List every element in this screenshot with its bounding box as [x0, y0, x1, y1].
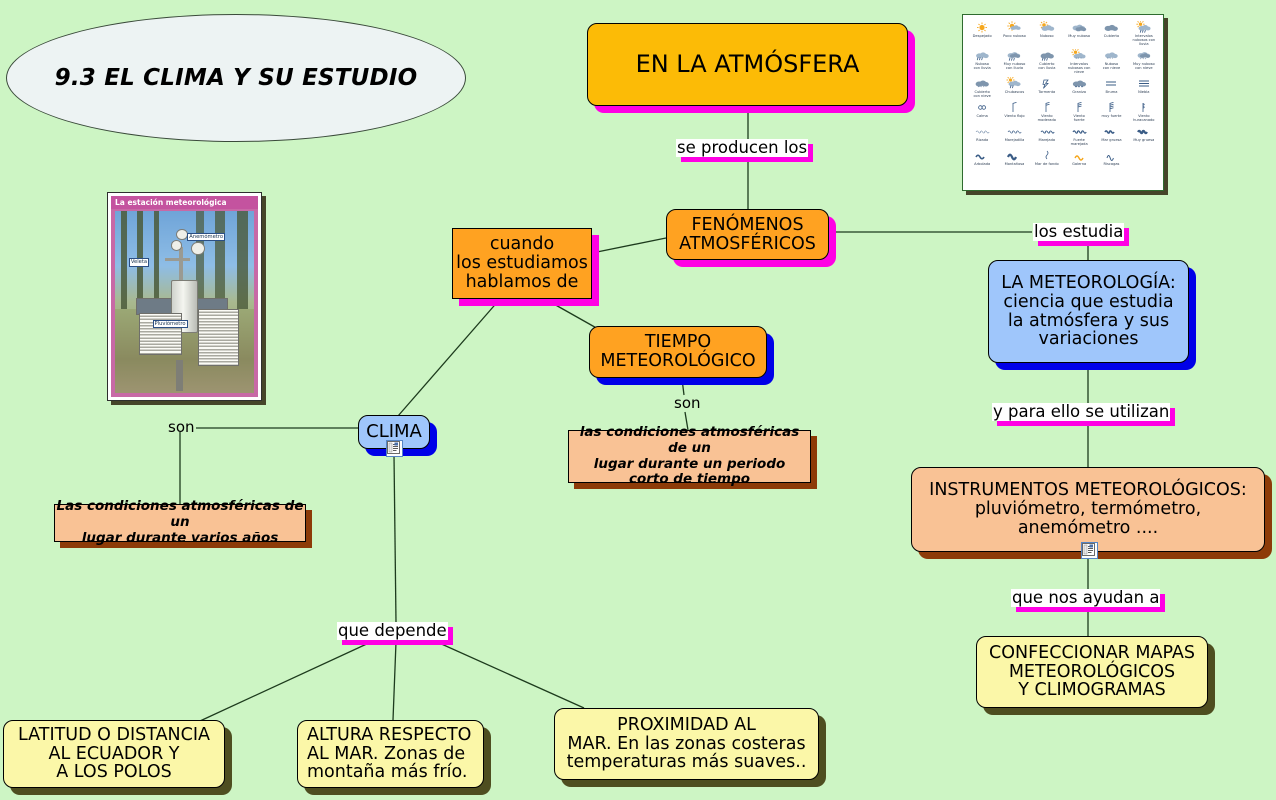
svg-text:*: * [1145, 57, 1147, 61]
thunderstorm-icon [1031, 76, 1063, 90]
showers-icon [998, 76, 1030, 90]
weather-symbol-label: Montañosa [998, 162, 1030, 166]
weather-symbol-label: Mar gruesa [1095, 138, 1127, 142]
node-label: LA METEOROLOGÍA: ciencia que estudia la … [1001, 274, 1175, 350]
weather-symbol-cell: Poco nuboso [998, 20, 1030, 47]
weather-symbol-label: Mar de fondo [1031, 162, 1063, 166]
clouds-snow-icon: *** [1128, 48, 1160, 62]
weather-symbol-cell: ***Nuboso con nieve [1095, 48, 1127, 75]
weather-symbol-cell: ***Cubierto con nieve [966, 76, 998, 99]
sea-rippled-icon [966, 124, 998, 138]
link-label-que-nos-ayudan-a[interactable]: que nos ayudan a [1011, 589, 1160, 607]
weather-symbol-label: Viento flojo [998, 114, 1030, 118]
weather-symbol-label: Calma [966, 114, 998, 118]
node-label: CLIMA [366, 422, 422, 441]
weather-symbol-label: Muy nuboso con lluvia [998, 62, 1030, 70]
note-icon-clima[interactable] [386, 440, 403, 457]
cloud-rain-icon [966, 48, 998, 62]
concept-map-canvas: 9.3 EL CLIMA Y SU ESTUDIO EN LA ATMÓSFER… [0, 0, 1276, 800]
weather-symbol-cell: Arbolada [966, 148, 998, 167]
node-en-la-atmosfera[interactable]: EN LA ATMÓSFERA [587, 23, 908, 106]
node-tiempo-meteorologico[interactable]: TIEMPO METEOROLÓGICO [589, 326, 767, 378]
page-title: 9.3 EL CLIMA Y SU ESTUDIO [55, 66, 418, 91]
weather-symbol-label: Intervalos nubosos con lluvia [1128, 34, 1160, 46]
weather-symbol-cell: Bruma [1095, 76, 1127, 99]
weather-symbol-cell: Fuerte marejada [1063, 124, 1095, 147]
weather-symbol-label: Despejado [966, 34, 998, 38]
weather-symbol-cell: Viento flojo [998, 100, 1030, 123]
clouds-rain-icon [998, 48, 1030, 62]
photo-scene: Anemómetro Veleta Pluviómetro [115, 211, 254, 393]
weather-symbol-label: Cubierto [1095, 34, 1127, 38]
weather-symbol-label: Nuboso [1031, 34, 1063, 38]
sun-icon [966, 20, 998, 34]
overcast-snow-icon: *** [966, 76, 998, 90]
weather-symbol-label: Poco nuboso [998, 34, 1030, 38]
weather-symbol-label: Rizada [966, 138, 998, 142]
node-altura-respecto-mar[interactable]: ALTURA RESPECTO AL MAR. Zonas de montaña… [297, 720, 484, 788]
photo-tag-veleta: Veleta [129, 258, 149, 266]
sea-smooth-icon [998, 124, 1030, 138]
weather-symbol-cell: Tormenta [1031, 76, 1063, 99]
weather-symbol-cell: Viento huracanado [1128, 100, 1160, 123]
note-icon-instrumentos[interactable] [1081, 542, 1098, 559]
node-fenomenos-atmosfericos[interactable]: FENÓMENOS ATMOSFÉRICOS [666, 209, 829, 260]
weather-symbol-label: Viento fuerte [1063, 114, 1095, 122]
node-label: CONFECCIONAR MAPAS METEOROLÓGICOS Y CLIM… [989, 644, 1195, 701]
weather-symbol-label: Viento moderado [1031, 114, 1063, 122]
weather-symbol-cell: Cubierto [1095, 20, 1127, 47]
weather-symbol-cell: Mar gruesa [1095, 124, 1127, 147]
note-clima-definition: Las condiciones atmosféricas de un lugar… [54, 504, 306, 542]
sea-very-high-icon [998, 148, 1030, 162]
weather-symbol-label: Riscagas [1095, 162, 1127, 166]
sea-rough-icon [1095, 124, 1127, 138]
weather-symbol-label: Granizo [1063, 90, 1095, 94]
photo-tag-pluviometro: Pluviómetro [153, 320, 188, 328]
weather-symbol-label: Nuboso con nieve [1095, 62, 1127, 70]
weather-symbol-cell: Montañosa [998, 148, 1030, 167]
weather-symbol-label: Cubierto con nieve [966, 90, 998, 98]
weather-symbol-cell: Nuboso con lluvia [966, 48, 998, 75]
link-label-los-estudia[interactable]: los estudia [1033, 223, 1124, 241]
wind-moderate-icon [1031, 100, 1063, 114]
weather-symbol-cell: Chubascos [998, 76, 1030, 99]
weather-symbol-cell: Intervalos nubosos con lluvia [1128, 20, 1160, 47]
node-label: PROXIMIDAD AL MAR. En las zonas costeras… [567, 716, 807, 773]
wind-light-icon [998, 100, 1030, 114]
node-label: cuando los estudiamos hablamos de [456, 235, 588, 292]
page-title-ellipse: 9.3 EL CLIMA Y SU ESTUDIO [6, 14, 466, 142]
weather-symbol-label: Galerna [1063, 162, 1095, 166]
note-tiempo-definition: las condiciones atmosféricas de un lugar… [568, 430, 811, 483]
sea-moderate-icon [1063, 124, 1095, 138]
weather-symbol-cell: Mar de fondo [1031, 148, 1063, 167]
link-label-y-para-ello-se-utilizan[interactable]: y para ello se utilizan [992, 403, 1170, 421]
sun-cloud-rain-icon [1128, 20, 1160, 34]
weather-symbol-cell: Cubierto con lluvia [1031, 48, 1063, 75]
weather-symbol-label: Chubascos [998, 90, 1030, 94]
node-instrumentos-meteorologicos[interactable]: INSTRUMENTOS METEOROLÓGICOS: pluviómetro… [911, 467, 1265, 552]
sea-very-rough-icon [1128, 124, 1160, 138]
photo-tag-anemometro: Anemómetro [187, 233, 225, 241]
calm-icon [966, 100, 998, 114]
wind-strong-icon [1063, 100, 1095, 114]
fog-icon [1128, 76, 1160, 90]
wind-hurricane-icon [1128, 100, 1160, 114]
weather-symbol-label: Bruma [1095, 90, 1127, 94]
node-proximidad-mar[interactable]: PROXIMIDAD AL MAR. En las zonas costeras… [554, 708, 819, 780]
weather-symbol-label: Tormenta [1031, 90, 1063, 94]
overcast-icon [1095, 20, 1127, 34]
weather-symbol-label: Marejada [1031, 138, 1063, 142]
link-label-son-clima[interactable]: son [167, 420, 196, 437]
weather-symbol-cell: Marejada [1031, 124, 1063, 147]
overcast-rain-icon [1031, 48, 1063, 62]
sun-cloud-icon [1031, 20, 1063, 34]
sea-slight-icon [1031, 124, 1063, 138]
node-cuando-los-estudiamos[interactable]: cuando los estudiamos hablamos de [452, 228, 592, 299]
link-label-son-tiempo[interactable]: son [673, 396, 702, 413]
node-label: TIEMPO METEOROLÓGICO [600, 333, 755, 371]
weather-symbol-cell: Muy gruesa [1128, 124, 1160, 147]
node-label: ALTURA RESPECTO AL MAR. Zonas de montaña… [307, 726, 471, 783]
sun-cloud-snow-icon: *** [1063, 48, 1095, 62]
weather-symbol-cell: Calma [966, 100, 998, 123]
node-label: FENÓMENOS ATMOSFÉRICOS [679, 216, 816, 254]
weather-symbol-label: Fuerte marejada [1063, 138, 1095, 146]
weather-symbol-cell: Marejadilla [998, 124, 1030, 147]
weather-symbol-label: Intervalos nubosos con nieve [1063, 62, 1095, 74]
weather-symbol-label: muy fuerte [1095, 114, 1127, 118]
link-label-que-depende[interactable]: que depende [337, 622, 448, 640]
sea-high-icon [966, 148, 998, 162]
mist-icon [1095, 76, 1127, 90]
cloud-snow-icon: *** [1095, 48, 1127, 62]
galerna-icon [1063, 148, 1095, 162]
weather-symbol-cell: Muy nuboso [1063, 20, 1095, 47]
rissaga-icon [1095, 148, 1127, 162]
weather-symbol-cell: ***Muy nuboso con nieve [1128, 48, 1160, 75]
node-label: EN LA ATMÓSFERA [636, 52, 860, 78]
weather-symbol-label: Arbolada [966, 162, 998, 166]
weather-symbol-label: Muy gruesa [1128, 138, 1160, 142]
weather-symbols-grid: DespejadoPoco nubosoNubosoMuy nubosoCubi… [966, 20, 1160, 167]
node-label: LATITUD O DISTANCIA AL ECUADOR Y A LOS P… [18, 726, 210, 783]
sun-small-cloud-icon [998, 20, 1030, 34]
swell-icon [1031, 148, 1063, 162]
weather-symbol-cell: Granizo [1063, 76, 1095, 99]
weather-symbol-cell: Galerna [1063, 148, 1095, 167]
weather-symbol-label: Niebla [1128, 90, 1160, 94]
weather-symbol-label: Muy nuboso [1063, 34, 1095, 38]
weather-symbol-cell: Nuboso [1031, 20, 1063, 47]
weather-symbol-label: Marejadilla [998, 138, 1030, 142]
node-la-meteorologia[interactable]: LA METEOROLOGÍA: ciencia que estudia la … [988, 260, 1189, 363]
weather-symbol-cell: Rizada [966, 124, 998, 147]
photo-title: La estación meteorológica [111, 196, 258, 209]
weather-symbol-cell: Niebla [1128, 76, 1160, 99]
weather-symbol-cell: Muy nuboso con lluvia [998, 48, 1030, 75]
weather-symbol-label: Viento huracanado [1128, 114, 1160, 122]
weather-symbol-label: Muy nuboso con nieve [1128, 62, 1160, 70]
clouds-icon [1063, 20, 1095, 34]
link-label-se-producen-los[interactable]: se producen los [676, 139, 808, 157]
weather-symbol-label: Nuboso con lluvia [966, 62, 998, 70]
weather-symbol-label: Cubierto con lluvia [1031, 62, 1063, 70]
weather-symbols-figure: DespejadoPoco nubosoNubosoMuy nubosoCubi… [962, 14, 1164, 191]
weather-symbol-cell: muy fuerte [1095, 100, 1127, 123]
weather-symbol-cell: Viento moderado [1031, 100, 1063, 123]
wind-very-strong-icon [1095, 100, 1127, 114]
weather-symbol-cell: ***Intervalos nubosos con nieve [1063, 48, 1095, 75]
hail-icon [1063, 76, 1095, 90]
weather-symbol-cell: Riscagas [1095, 148, 1127, 167]
weather-station-photo: La estación meteorológica Ane [107, 192, 262, 401]
weather-symbol-cell: Despejado [966, 20, 998, 47]
node-confeccionar-mapas[interactable]: CONFECCIONAR MAPAS METEOROLÓGICOS Y CLIM… [976, 636, 1208, 708]
node-latitud-distancia[interactable]: LATITUD O DISTANCIA AL ECUADOR Y A LOS P… [3, 720, 225, 788]
node-label: INSTRUMENTOS METEOROLÓGICOS: pluviómetro… [929, 481, 1247, 538]
weather-symbol-cell: Viento fuerte [1063, 100, 1095, 123]
